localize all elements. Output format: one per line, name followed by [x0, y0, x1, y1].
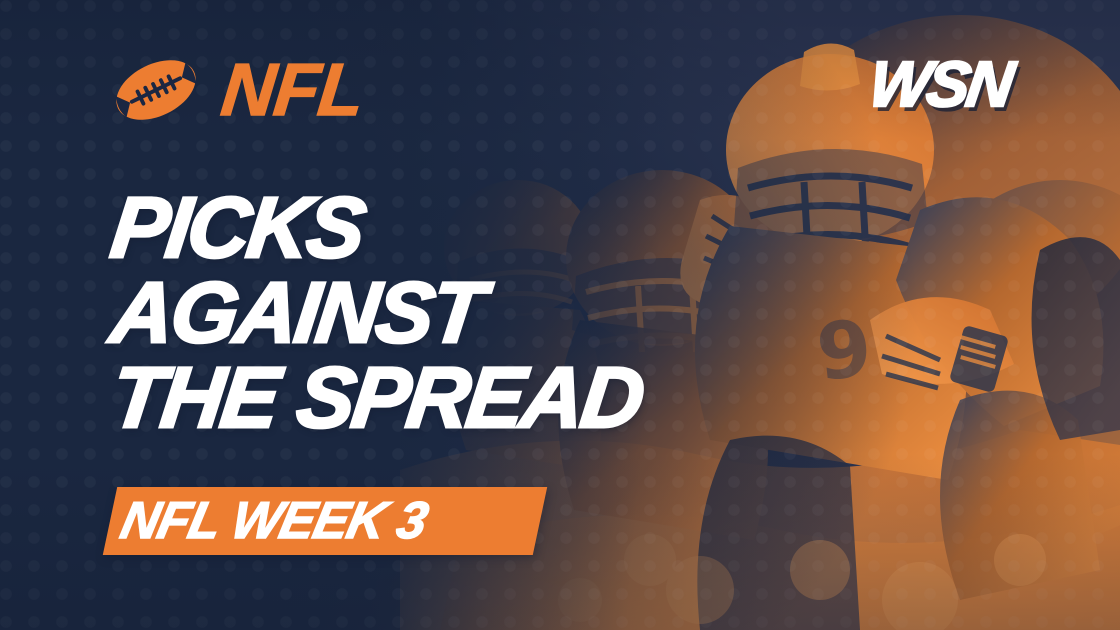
week-banner-label: NFL WEEK 3 [115, 487, 559, 555]
american-football-icon [108, 42, 204, 138]
headline-line-3: THE SPREAD [107, 356, 1017, 441]
headline-line-1: PICKS [107, 186, 1017, 271]
page-title: PICKS AGAINST THE SPREAD [112, 186, 1012, 441]
nfl-logo-text: NFL [218, 53, 367, 127]
headline-line-2: AGAINST [107, 271, 1017, 356]
wsn-logo: WSN [865, 52, 1014, 116]
nfl-logo: NFL [108, 42, 363, 138]
nfl-picks-against-the-spread-graphic: 9 [0, 0, 1120, 630]
